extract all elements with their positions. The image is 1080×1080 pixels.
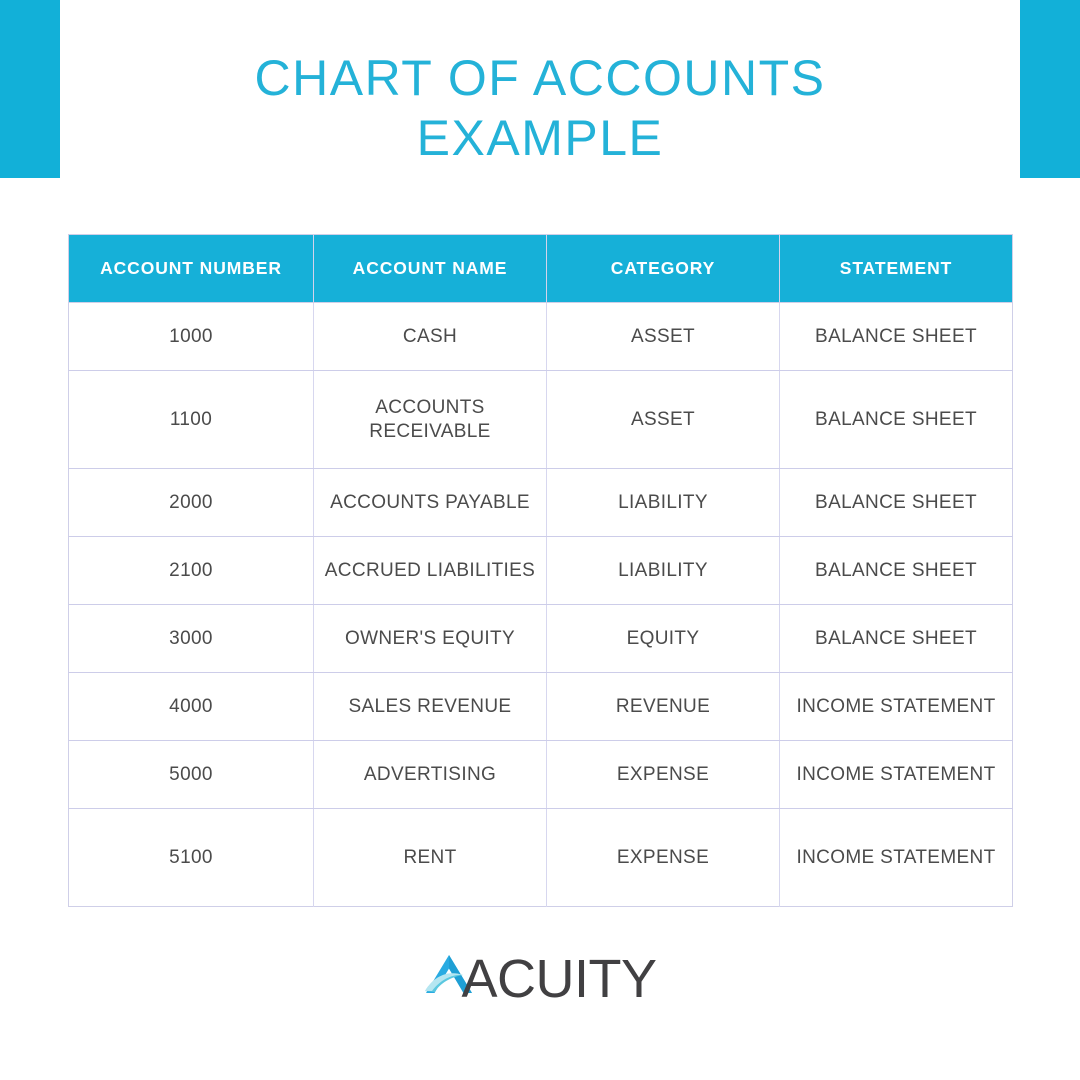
cell-account-number: 5100	[69, 809, 314, 907]
column-header-category: CATEGORY	[547, 235, 780, 303]
cell-account-name: SALES REVENUE	[314, 673, 547, 741]
page-title-line-2: EXAMPLE	[150, 108, 930, 168]
cell-account-name: OWNER'S EQUITY	[314, 605, 547, 673]
chart-of-accounts-table-wrapper: ACCOUNT NUMBER ACCOUNT NAME CATEGORY STA…	[68, 234, 1012, 907]
brand-wordmark: ACUITY	[461, 952, 656, 1006]
table-row: 4000SALES REVENUEREVENUEINCOME STATEMENT	[69, 673, 1013, 741]
column-header-account-name: ACCOUNT NAME	[314, 235, 547, 303]
table-row: 2000ACCOUNTS PAYABLELIABILITYBALANCE SHE…	[69, 469, 1013, 537]
column-header-statement: STATEMENT	[780, 235, 1013, 303]
cell-account-number: 4000	[69, 673, 314, 741]
table-row: 1000CASHASSETBALANCE SHEET	[69, 303, 1013, 371]
table-row: 3000OWNER'S EQUITYEQUITYBALANCE SHEET	[69, 605, 1013, 673]
table-row: 1100ACCOUNTS RECEIVABLEASSETBALANCE SHEE…	[69, 371, 1013, 469]
table-row: 2100ACCRUED LIABILITIESLIABILITYBALANCE …	[69, 537, 1013, 605]
cell-account-name: ADVERTISING	[314, 741, 547, 809]
cell-account-name: ACCOUNTS RECEIVABLE	[314, 371, 547, 469]
cell-account-number: 5000	[69, 741, 314, 809]
table-row: 5100RENTEXPENSEINCOME STATEMENT	[69, 809, 1013, 907]
cell-statement: BALANCE SHEET	[780, 371, 1013, 469]
page-title-line-1: CHART OF ACCOUNTS	[150, 48, 930, 108]
cell-category: LIABILITY	[547, 537, 780, 605]
cell-statement: BALANCE SHEET	[780, 537, 1013, 605]
cell-category: REVENUE	[547, 673, 780, 741]
brand-logo: ACUITY	[0, 952, 1080, 1006]
cell-account-number: 2000	[69, 469, 314, 537]
cell-account-name: ACCOUNTS PAYABLE	[314, 469, 547, 537]
cell-statement: BALANCE SHEET	[780, 303, 1013, 371]
cell-category: EQUITY	[547, 605, 780, 673]
cell-category: EXPENSE	[547, 741, 780, 809]
chart-of-accounts-table: ACCOUNT NUMBER ACCOUNT NAME CATEGORY STA…	[68, 234, 1013, 907]
cell-category: ASSET	[547, 371, 780, 469]
page-title: CHART OF ACCOUNTS EXAMPLE	[150, 48, 930, 168]
cell-statement: INCOME STATEMENT	[780, 809, 1013, 907]
cell-statement: BALANCE SHEET	[780, 469, 1013, 537]
cell-account-name: CASH	[314, 303, 547, 371]
cell-statement: BALANCE SHEET	[780, 605, 1013, 673]
cell-account-name: RENT	[314, 809, 547, 907]
table-body: 1000CASHASSETBALANCE SHEET1100ACCOUNTS R…	[69, 303, 1013, 907]
cell-account-number: 2100	[69, 537, 314, 605]
cell-account-name: ACCRUED LIABILITIES	[314, 537, 547, 605]
cell-category: ASSET	[547, 303, 780, 371]
cell-statement: INCOME STATEMENT	[780, 741, 1013, 809]
table-header-row: ACCOUNT NUMBER ACCOUNT NAME CATEGORY STA…	[69, 235, 1013, 303]
decorative-bar-left	[0, 0, 60, 178]
cell-statement: INCOME STATEMENT	[780, 673, 1013, 741]
cell-category: EXPENSE	[547, 809, 780, 907]
table-row: 5000ADVERTISINGEXPENSEINCOME STATEMENT	[69, 741, 1013, 809]
decorative-bar-right	[1020, 0, 1080, 178]
cell-account-number: 1000	[69, 303, 314, 371]
cell-account-number: 3000	[69, 605, 314, 673]
cell-category: LIABILITY	[547, 469, 780, 537]
column-header-account-number: ACCOUNT NUMBER	[69, 235, 314, 303]
table-header: ACCOUNT NUMBER ACCOUNT NAME CATEGORY STA…	[69, 235, 1013, 303]
cell-account-number: 1100	[69, 371, 314, 469]
